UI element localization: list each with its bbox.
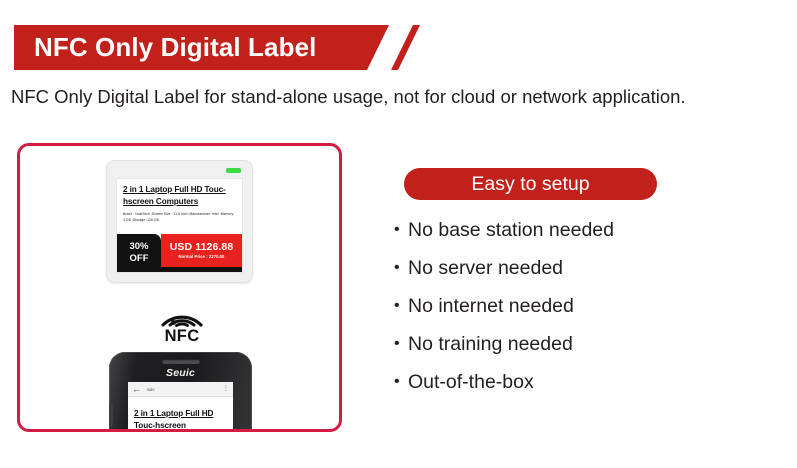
list-item-label: No base station needed [408,219,614,242]
arrow-left-icon[interactable]: ← [132,385,141,394]
page-title: NFC Only Digital Label [34,25,316,70]
esl-current-price: USD 1126.88 [170,241,234,253]
speaker-grille-icon [162,359,200,364]
nfc-label-text: NFC [150,327,214,346]
bullet-dot-icon: • [394,260,408,276]
easy-to-setup-pill: Easy to setup [404,168,657,200]
app-bar: ← sale ⋮ [128,382,233,397]
nfc-wave-mark: NFC [150,294,214,350]
list-item: • No training needed [394,333,774,371]
esl-normal-price: Normal Price : 2270.00 [179,254,225,259]
product-photo-card: 2 in 1 Laptop Full HD Touc-hscreen Compu… [17,143,342,432]
banner-slash-decoration [391,25,421,70]
list-item-label: No server needed [408,257,563,280]
esl-screen: 2 in 1 Laptop Full HD Touc-hscreen Compu… [116,178,243,273]
esl-discount-badge: 30% OFF [117,234,161,272]
nfc-digital-label-device: 2 in 1 Laptop Full HD Touc-hscreen Compu… [106,160,253,283]
list-item: • No server needed [394,257,774,295]
bullet-dot-icon: • [394,374,408,390]
list-item-label: Out-of-the-box [408,371,534,394]
list-item-label: No training needed [408,333,573,356]
list-item-label: No internet needed [408,295,574,318]
page-subtitle: NFC Only Digital Label for stand-alone u… [11,86,686,108]
app-bar-title: sale [147,387,223,392]
handheld-brand-logo: Seuic [166,367,195,379]
bullet-dot-icon: • [394,336,408,352]
esl-product-specs: Brand : NulaTech ;Screen Size : 11.6 inc… [123,212,236,224]
esl-discount-off: OFF [130,253,149,265]
bullet-dot-icon: • [394,298,408,314]
status-led-indicator [226,168,241,173]
handheld-product-title: 2 in 1 Laptop Full HD Touc-hscreen Compu… [134,408,227,432]
esl-barcode-strip [161,267,242,272]
list-item: • Out-of-the-box [394,371,774,409]
nfc-signal-icon [159,294,205,328]
esl-price-block: USD 1126.88 Normal Price : 2270.00 [161,234,242,267]
esl-product-title: 2 in 1 Laptop Full HD Touc-hscreen Compu… [123,184,236,208]
list-item: • No internet needed [394,295,774,333]
header-banner: NFC Only Digital Label [14,25,434,70]
esl-price-column: USD 1126.88 Normal Price : 2270.00 [161,234,242,272]
handheld-screen: ← sale ⋮ 2 in 1 Laptop Full HD Touc-hscr… [128,382,233,432]
nfc-only-digital-label-slide: { "header": { "banner_title": "NFC Only … [0,0,797,468]
esl-discount-percent: 30% [129,241,148,253]
handheld-terminal-device: Seuic ← sale ⋮ 2 in 1 Laptop Full HD Tou… [109,352,252,432]
feature-bullet-list: • No base station needed • No server nee… [394,219,774,409]
handheld-side-button [109,404,113,426]
easy-to-setup-label: Easy to setup [471,173,589,196]
esl-price-row: 30% OFF USD 1126.88 Normal Price : 2270.… [117,234,242,272]
bullet-dot-icon: • [394,222,408,238]
list-item: • No base station needed [394,219,774,257]
more-vertical-icon[interactable]: ⋮ [223,386,229,392]
